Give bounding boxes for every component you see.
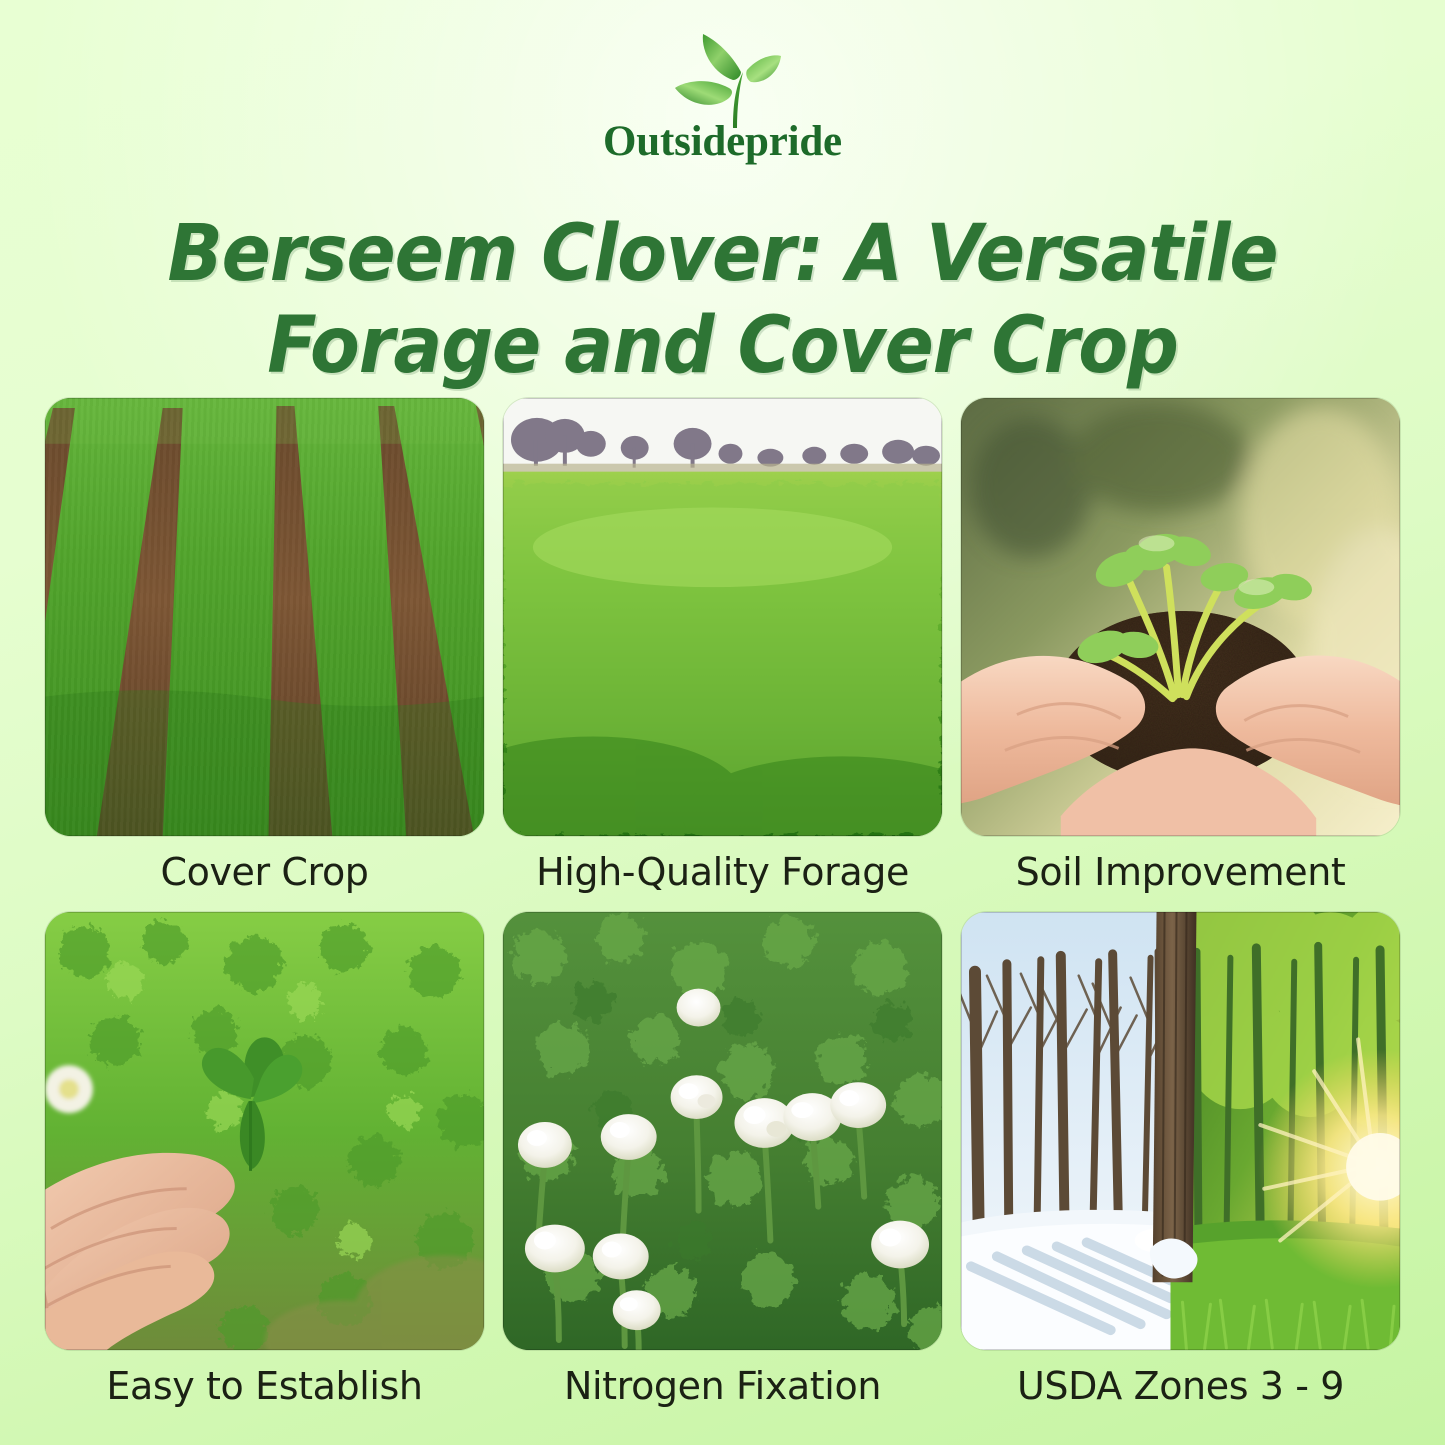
feature-cell-easy-to-establish: Easy to Establish xyxy=(45,912,484,1408)
feature-cell-nitrogen-fixation: Nitrogen Fixation xyxy=(503,912,942,1408)
caption-usda-zones: USDA Zones 3 - 9 xyxy=(961,1366,1400,1408)
caption-nitrogen-fixation: Nitrogen Fixation xyxy=(503,1366,942,1408)
image-easy-to-establish xyxy=(45,912,484,1350)
brand-logo: Outsidepride xyxy=(0,28,1445,188)
page-title-line-2: Forage and Cover Crop xyxy=(267,301,1178,391)
page-title: Berseem Clover: A Versatile Forage and C… xyxy=(134,208,1310,392)
image-high-quality-forage xyxy=(503,398,942,836)
caption-high-quality-forage: High-Quality Forage xyxy=(503,852,942,894)
feature-cell-high-quality-forage: High-Quality Forage xyxy=(503,398,942,894)
image-cover-crop xyxy=(45,398,484,836)
feature-cell-usda-zones: USDA Zones 3 - 9 xyxy=(961,912,1400,1408)
caption-soil-improvement: Soil Improvement xyxy=(961,852,1400,894)
feature-cell-soil-improvement: Soil Improvement xyxy=(961,398,1400,894)
image-usda-zones xyxy=(961,912,1400,1350)
caption-easy-to-establish: Easy to Establish xyxy=(45,1366,484,1408)
texture-overlay xyxy=(45,398,484,836)
feature-grid: Cover Crop xyxy=(45,398,1400,1408)
image-nitrogen-fixation xyxy=(503,912,942,1350)
infographic-poster: Outsidepride Berseem Clover: A Versatile… xyxy=(0,0,1445,1445)
page-title-line-1: Berseem Clover: A Versatile xyxy=(168,209,1278,299)
image-soil-improvement xyxy=(961,398,1400,836)
brand-name: Outsidepride xyxy=(603,120,842,163)
feature-cell-cover-crop: Cover Crop xyxy=(45,398,484,894)
caption-cover-crop: Cover Crop xyxy=(45,852,484,894)
